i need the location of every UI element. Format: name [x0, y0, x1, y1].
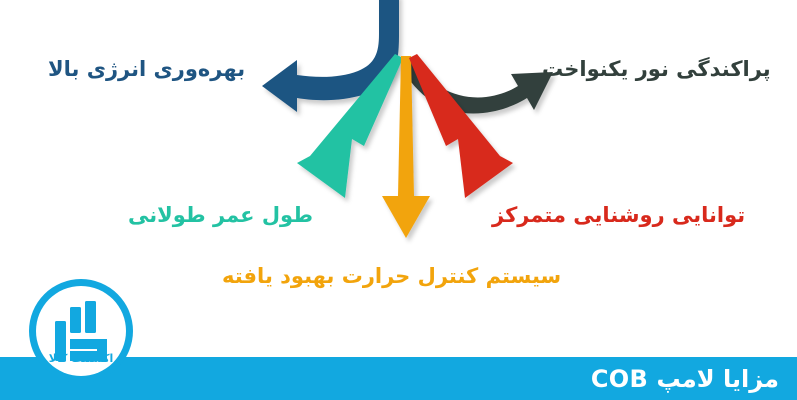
infographic-canvas: بهره‌وری انرژی بالا پراکندگی نور یکنواخت… — [0, 0, 797, 400]
arrow-long-life — [297, 54, 403, 198]
banner-title: مزایا لامپ COB — [591, 365, 779, 393]
label-focused-lighting: توانایی روشنایی متمرکز — [492, 203, 745, 227]
label-energy-efficiency: بهره‌وری انرژی بالا — [48, 57, 245, 81]
arrow-thermal-control — [382, 56, 430, 238]
label-uniform-light: پراکندگی نور یکنواخت — [542, 57, 771, 81]
excellent-kala-logo-icon — [27, 277, 135, 385]
logo-wordmark: اکسلنت کالا — [27, 352, 135, 365]
arrow-uniform-light — [401, 56, 553, 114]
label-long-life: طول عمر طولانی — [128, 203, 313, 227]
arrow-focused-lighting — [409, 54, 513, 198]
arrow-energy-efficiency — [262, 0, 399, 112]
label-thermal-control: سیستم کنترل حرارت بهبود یافته — [222, 264, 561, 288]
